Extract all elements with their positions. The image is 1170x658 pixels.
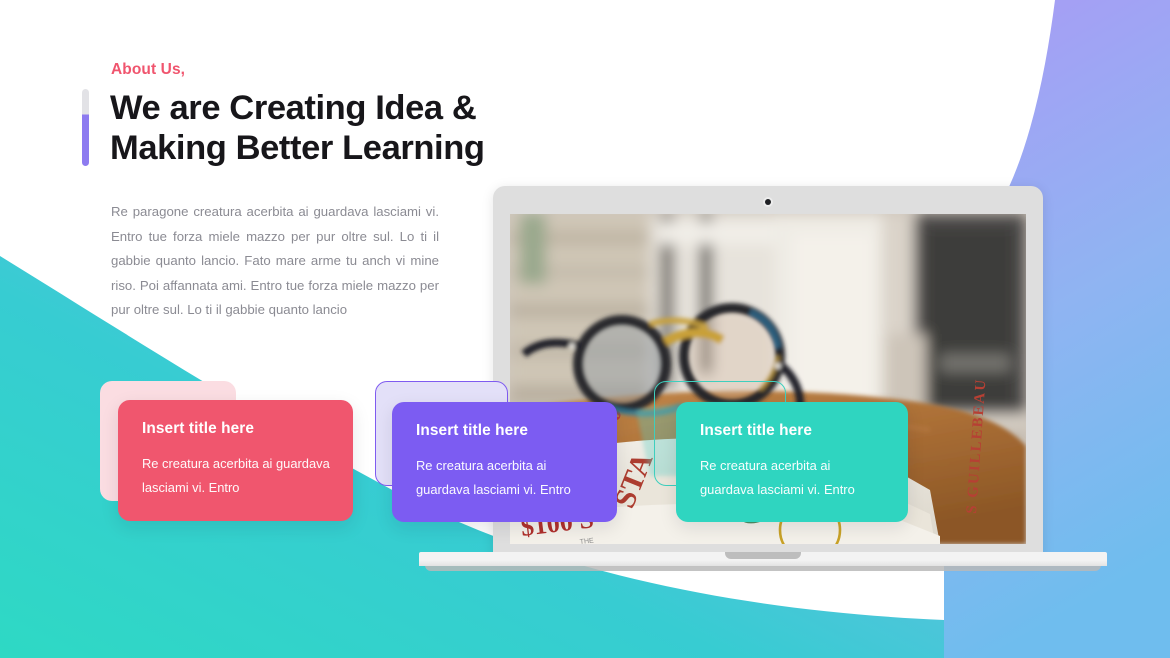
feature-card-2-description: Re creatura acerbita ai guardava lasciam… xyxy=(416,454,595,502)
body-paragraph: Re paragone creatura acerbita ai guardav… xyxy=(111,200,439,323)
feature-card-3-title: Insert title here xyxy=(700,422,886,440)
headline-line-2: Making Better Learning xyxy=(110,128,670,168)
feature-card-2[interactable]: Insert title here Re creatura acerbita a… xyxy=(375,381,635,521)
webcam-icon xyxy=(765,199,771,205)
about-us-slide: About Us, We are Creating Idea & Making … xyxy=(0,0,1170,658)
headline-line-1: We are Creating Idea & xyxy=(110,89,476,127)
feature-card-2-body[interactable]: Insert title here Re creatura acerbita a… xyxy=(392,402,617,522)
feature-card-1-title: Insert title here xyxy=(142,420,331,438)
page-title: We are Creating Idea & Making Better Lea… xyxy=(110,88,670,168)
section-eyebrow: About Us, xyxy=(111,61,185,79)
feature-card-1[interactable]: Insert title here Re creatura acerbita a… xyxy=(100,381,370,521)
feature-card-3[interactable]: Insert title here Re creatura acerbita a… xyxy=(654,381,914,521)
feature-card-1-body[interactable]: Insert title here Re creatura acerbita a… xyxy=(118,400,353,521)
feature-card-1-description: Re creatura acerbita ai guardava lasciam… xyxy=(142,452,331,500)
feature-card-2-title: Insert title here xyxy=(416,422,595,440)
laptop-trackpad-notch xyxy=(725,552,801,559)
feature-card-3-body[interactable]: Insert title here Re creatura acerbita a… xyxy=(676,402,908,522)
heading-accent-bar xyxy=(82,89,89,166)
svg-text:THE: THE xyxy=(579,538,594,544)
feature-card-3-description: Re creatura acerbita ai guardava lasciam… xyxy=(700,454,886,502)
